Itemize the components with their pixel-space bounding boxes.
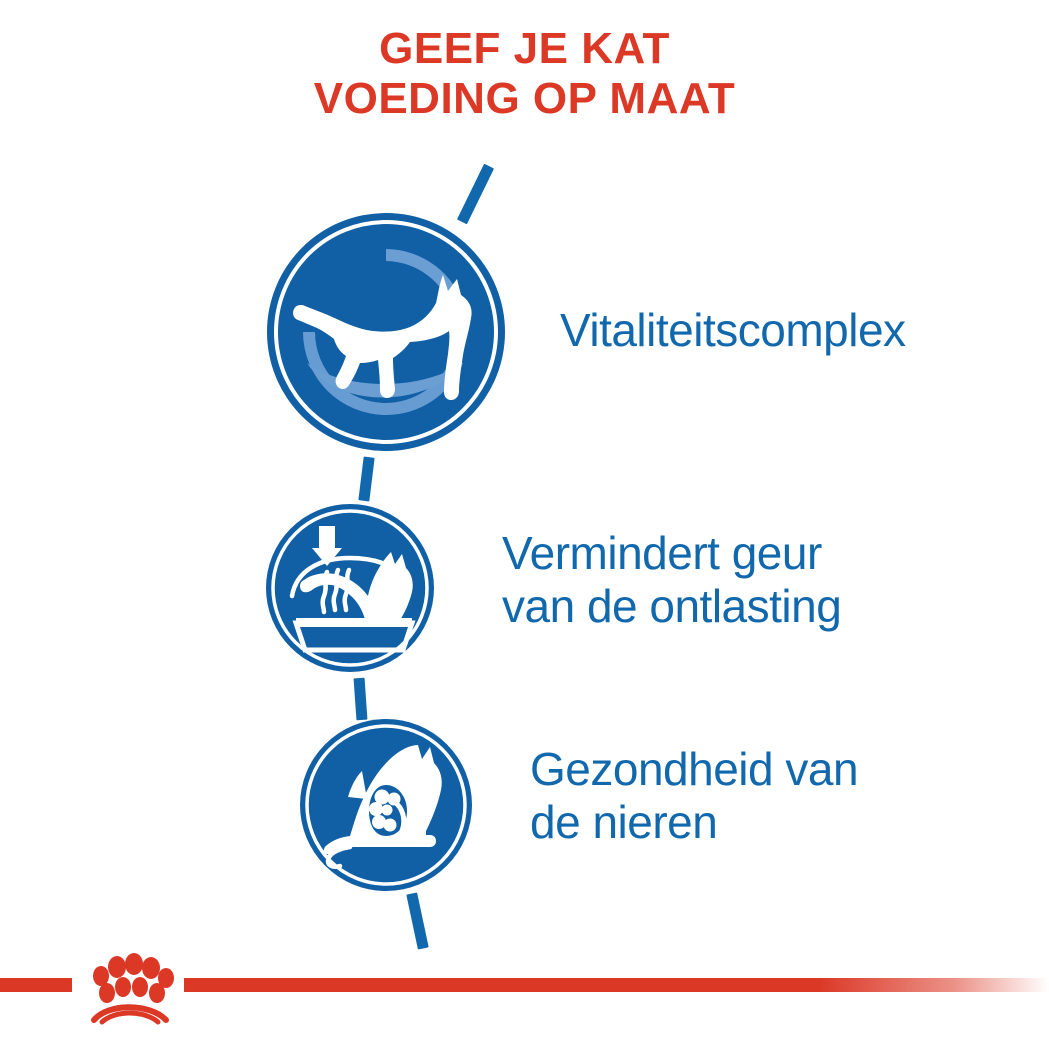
feature-label-line-1: Vitaliteitscomplex <box>560 303 1030 357</box>
feature-label-vitality-complex: Vitaliteitscomplex <box>560 303 1030 357</box>
feature-label-line-2: de nieren <box>530 796 1030 849</box>
feature-label-line-1: Vermindert geur <box>502 527 1022 580</box>
page-title: GEEF JE KAT VOEDING OP MAAT <box>0 24 1049 124</box>
feature-label-kidney-health: Gezondheid van de nieren <box>530 743 1030 849</box>
dashed-connector-bottom <box>406 892 428 949</box>
dashed-connector-1-2 <box>358 456 374 501</box>
dashed-connector-2-3 <box>354 678 368 721</box>
feature-label-line-1: Gezondheid van <box>530 743 1030 796</box>
poster-canvas: GEEF JE KAT VOEDING OP MAAT Vitaliteitsc… <box>0 0 1049 1049</box>
cat-litter-box-odour-icon <box>266 504 434 672</box>
feature-label-line-2: van de ontlasting <box>502 580 1022 633</box>
cat-kidney-health-icon <box>300 719 472 891</box>
feature-label-reduced-stool-odour: Vermindert geur van de ontlasting <box>502 527 1022 633</box>
walking-cat-icon <box>267 213 505 451</box>
headline-line-2: VOEDING OP MAAT <box>0 74 1049 124</box>
headline-line-1: GEEF JE KAT <box>0 24 1049 74</box>
royal-canin-crown-logo <box>70 948 186 1028</box>
